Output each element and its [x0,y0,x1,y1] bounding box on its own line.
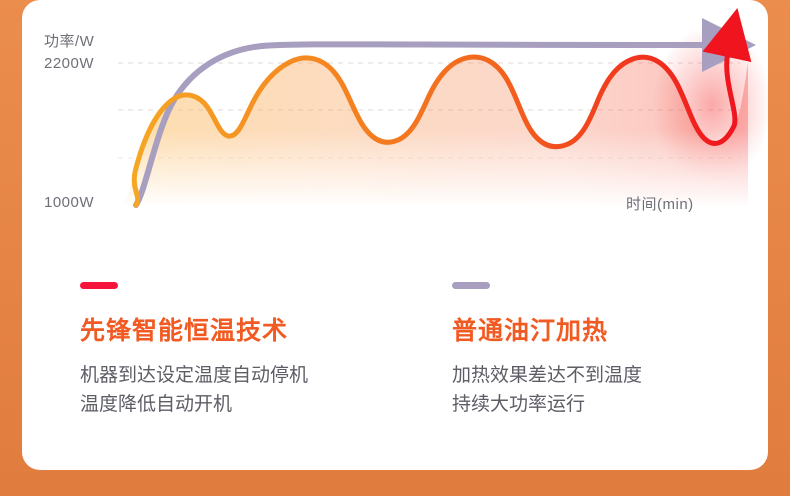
content-card: 功率/W 2200W 1000W 时间(min) 先锋智能恒温技术 机器到达设定… [22,0,768,470]
legend-title-ordinary: 普通油汀加热 [452,311,762,347]
legend-desc-smart-line1: 机器到达设定温度自动停机 [80,361,410,390]
legend-desc-ordinary-line1: 加热效果差达不到温度 [452,361,762,390]
legend-desc-ordinary-line2: 持续大功率运行 [452,390,762,419]
legend-marker-ordinary [452,282,490,289]
legend-block-ordinary: 普通油汀加热 加热效果差达不到温度 持续大功率运行 [452,282,762,419]
legend-title-smart: 先锋智能恒温技术 [80,311,410,347]
legend-desc-smart-line2: 温度降低自动开机 [80,390,410,419]
y-tick-top: 2200W [44,55,94,72]
legend-block-smart: 先锋智能恒温技术 机器到达设定温度自动停机 温度降低自动开机 [80,282,410,419]
y-tick-bottom: 1000W [44,194,94,211]
page-frame: 功率/W 2200W 1000W 时间(min) 先锋智能恒温技术 机器到达设定… [0,0,790,496]
y-axis-label: 功率/W [44,30,94,51]
power-chart: 功率/W 2200W 1000W 时间(min) [22,0,768,248]
legend-marker-smart [80,282,118,289]
x-axis-label: 时间(min) [626,193,694,214]
